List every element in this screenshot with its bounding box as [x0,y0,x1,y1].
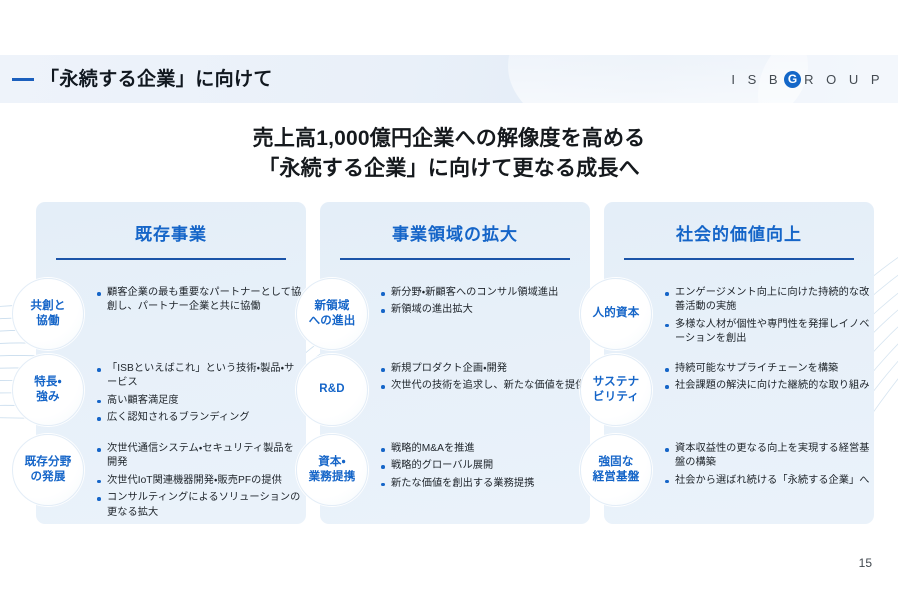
category-bubble[interactable]: 強固な経営基盤 [580,434,652,506]
page-number: 15 [859,556,872,570]
panel-title-underline [624,258,854,260]
bullet-item: 高い顧客満足度 [96,394,302,408]
bullet-list: 持続可能なサプライチェーンを構築社会課題の解決に向けた継続的な取り組み [664,362,870,394]
category-bubble-label-line: への進出 [309,314,356,329]
bullet-item: 社会から選ばれ続ける「永続する企業」へ [664,474,870,488]
category-bubble-label: 既存分野の発展 [25,455,72,485]
category-bubble-label: R&D [319,382,345,397]
category-bubble-label-line: 経営基盤 [593,470,640,485]
category-bubble[interactable]: 特長・強み [12,354,84,426]
bullet-item: 「ISBといえばこれ」という技術・製品・サービス [96,362,302,391]
logo-prefix-text: I S B [731,72,782,87]
header-dash-icon [12,78,34,81]
bullet-list: 戦略的M&Aを推進戦略的グローバル展開新たな価値を創出する業務提携 [380,442,586,491]
panel-title: 事業領域の拡大 [320,220,590,245]
category-bubble-label-line: 人的資本 [593,306,640,321]
category-bubble-label-line: ビリティ [593,390,640,405]
category-bubble-label: 資本・業務提携 [309,455,356,485]
panel-title: 社会的価値向上 [604,220,874,245]
category-bubble-label-line: 強固な [593,455,640,470]
category-bubble-label-line: 特長・ [34,375,62,390]
bullet-item: コンサルティングによるソリューションの更なる拡大 [96,491,302,520]
category-bubble-label: 新領域への進出 [309,299,356,329]
logo-suffix-text: R O U P [804,72,884,87]
category-bubble[interactable]: 新領域への進出 [296,278,368,350]
category-bubble[interactable]: 共創と協働 [12,278,84,350]
category-bubble-label: 強固な経営基盤 [593,455,640,485]
main-heading: 売上高1,000億円企業への解像度を高める 「永続する企業」に向けて更なる成長へ [0,124,898,184]
category-bubble-label: 人的資本 [593,306,640,321]
bullet-item: 資本収益性の更なる向上を実現する経営基盤の構築 [664,442,870,471]
bullet-item: 新領域の進出拡大 [380,303,586,317]
category-bubble[interactable]: 既存分野の発展 [12,434,84,506]
strategy-panel: 社会的価値向上人的資本エンゲージメント向上に向けた持続的な改善活動の実施多様な人… [604,202,874,524]
logo-g-circle-icon: G [784,71,801,88]
bullet-item: 新規プロダクト企画・開発 [380,362,586,376]
bullet-list: 新規プロダクト企画・開発次世代の技術を追求し、新たな価値を提供 [380,362,586,394]
category-bubble-label: 特長・強み [34,375,62,405]
bullet-item: 次世代の技術を追求し、新たな価値を提供 [380,379,586,393]
panel-title-underline [340,258,570,260]
category-bubble-label: サステナビリティ [593,375,640,405]
bullet-list: エンゲージメント向上に向けた持続的な改善活動の実施多様な人材が個性や専門性を発揮… [664,286,870,347]
category-bubble[interactable]: 人的資本 [580,278,652,350]
category-bubble-label-line: 資本・ [309,455,356,470]
bullet-item: 新たな価値を創出する業務提携 [380,477,586,491]
category-bubble-label-line: 新領域 [309,299,356,314]
bullet-item: 戦略的M&Aを推進 [380,442,586,456]
bullet-list: 新分野・新顧客へのコンサル領域進出新領域の進出拡大 [380,286,586,318]
category-bubble-label-line: 強み [34,390,62,405]
bullet-item: 社会課題の解決に向けた継続的な取り組み [664,379,870,393]
category-bubble-label-line: サステナ [593,375,640,390]
bullet-item: 顧客企業の最も重要なパートナーとして協創し、パートナー企業と共に協働 [96,286,302,315]
bullet-list: 顧客企業の最も重要なパートナーとして協創し、パートナー企業と共に協働 [96,286,302,315]
strategy-panel: 事業領域の拡大新領域への進出新分野・新顧客へのコンサル領域進出新領域の進出拡大R… [320,202,590,524]
bullet-item: 持続可能なサプライチェーンを構築 [664,362,870,376]
panel-title: 既存事業 [36,220,306,245]
bullet-item: 多様な人材が個性や専門性を発揮しイノベーションを創出 [664,318,870,347]
bullet-list: 資本収益性の更なる向上を実現する経営基盤の構築社会から選ばれ続ける「永続する企業… [664,442,870,488]
category-bubble-label-line: R&D [319,382,345,397]
category-bubble-label-line: 協働 [30,314,65,329]
bullet-item: 次世代通信システム・セキュリティ製品を開発 [96,442,302,471]
category-bubble-label: 共創と協働 [30,299,65,329]
main-heading-line-2: 「永続する企業」に向けて更なる成長へ [0,154,898,184]
bullet-item: エンゲージメント向上に向けた持続的な改善活動の実施 [664,286,870,315]
category-bubble-label-line: 既存分野 [25,455,72,470]
bullet-item: 広く認知されるブランディング [96,411,302,425]
bullet-list: 「ISBといえばこれ」という技術・製品・サービス高い顧客満足度広く認知されるブラ… [96,362,302,426]
category-bubble-label-line: 業務提携 [309,470,356,485]
bullet-list: 次世代通信システム・セキュリティ製品を開発次世代IoT関連機器開発・販売PFの提… [96,442,302,520]
category-bubble[interactable]: R&D [296,354,368,426]
category-bubble[interactable]: 資本・業務提携 [296,434,368,506]
strategy-panel: 既存事業共創と協働顧客企業の最も重要なパートナーとして協創し、パートナー企業と共… [36,202,306,524]
category-bubble[interactable]: サステナビリティ [580,354,652,426]
bullet-item: 戦略的グローバル展開 [380,459,586,473]
header-title: 「永続する企業」に向けて [40,64,273,91]
bullet-item: 次世代IoT関連機器開発・販売PFの提供 [96,474,302,488]
isb-group-logo: I S B G R O U P [731,68,884,90]
strategy-columns: 既存事業共創と協働顧客企業の最も重要なパートナーとして協創し、パートナー企業と共… [0,202,898,532]
category-bubble-label-line: 共創と [30,299,65,314]
main-heading-line-1: 売上高1,000億円企業への解像度を高める [0,124,898,154]
slide-root: 「永続する企業」に向けて I S B G R O U P 売上高1,000億円企… [0,0,898,614]
category-bubble-label-line: の発展 [25,470,72,485]
panel-title-underline [56,258,286,260]
bullet-item: 新分野・新顧客へのコンサル領域進出 [380,286,586,300]
